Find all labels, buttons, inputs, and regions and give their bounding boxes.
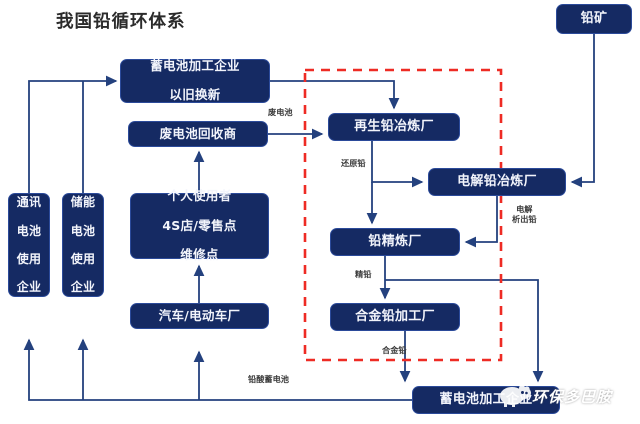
- edge-label-alloy-lead: 合金铅: [382, 345, 407, 355]
- node-label-line: 个人使用者: [131, 189, 268, 204]
- node-label-line: 企业: [9, 280, 49, 294]
- node-lead-refinery[interactable]: 铅精炼厂: [330, 228, 460, 256]
- node-label-line: 通讯: [9, 195, 49, 209]
- node-label-line: 汽车/电动车厂: [131, 309, 268, 324]
- node-electrolytic-lead-smelter[interactable]: 电解铅冶炼厂: [428, 168, 566, 196]
- node-telecom-battery-user[interactable]: 通讯 电池 使用 企业: [8, 193, 50, 297]
- node-label-line: 电池: [9, 224, 49, 238]
- node-label-line: 企业: [63, 280, 103, 294]
- node-label-line: 合金铅加工厂: [331, 309, 459, 324]
- node-waste-battery-recycler[interactable]: 废电池回收商: [128, 121, 268, 147]
- edge-label-electro-deposited-lead: 电解 析出铅: [512, 204, 537, 225]
- node-secondary-lead-smelter[interactable]: 再生铅冶炼厂: [328, 113, 460, 141]
- edge-label-refined-lead: 精铅: [355, 269, 371, 279]
- panda-logo-icon: [498, 383, 532, 413]
- node-lead-ore[interactable]: 铅矿: [556, 4, 632, 34]
- node-label-line: 再生铅冶炼厂: [329, 119, 459, 134]
- node-label-line: 使用: [63, 252, 103, 266]
- node-label-line: 废电池回收商: [129, 127, 267, 142]
- node-storage-battery-user[interactable]: 储能 电池 使用 企业: [62, 193, 104, 297]
- node-auto-ev-plant[interactable]: 汽车/电动车厂: [130, 303, 269, 329]
- node-label-line: 维修点: [131, 248, 268, 263]
- node-label-line: 电解铅冶炼厂: [429, 174, 565, 189]
- watermark-text: 环保多巴胺: [532, 386, 612, 407]
- node-label-line: 电池: [63, 224, 103, 238]
- edge-label-reduced-lead: 还原铅: [341, 158, 366, 168]
- diagram-canvas: 我国铅循环体系 蓄电池加工企业 以旧换新 废电池回收商 通讯 电池 使用 企业 …: [0, 0, 640, 424]
- node-alloy-lead-plant[interactable]: 合金铅加工厂: [330, 303, 460, 331]
- edge-label-lead-acid-battery: 铅酸蓄电池: [248, 374, 289, 384]
- page-title: 我国铅循环体系: [56, 8, 186, 33]
- node-battery-maker-trade-in[interactable]: 蓄电池加工企业 以旧换新: [120, 59, 270, 103]
- node-label-line: 蓄电池加工企业: [121, 59, 269, 74]
- node-label-line: 4S店/零售点: [131, 219, 268, 234]
- node-label-line: 以旧换新: [121, 88, 269, 103]
- node-label-line: 铅精炼厂: [331, 234, 459, 249]
- node-label-line: 铅矿: [557, 11, 631, 26]
- edge-label-waste-battery: 废电池: [268, 107, 293, 117]
- node-label-line: 使用: [9, 252, 49, 266]
- node-label-line: 储能: [63, 195, 103, 209]
- node-individual-users[interactable]: 个人使用者 4S店/零售点 维修点: [130, 193, 269, 259]
